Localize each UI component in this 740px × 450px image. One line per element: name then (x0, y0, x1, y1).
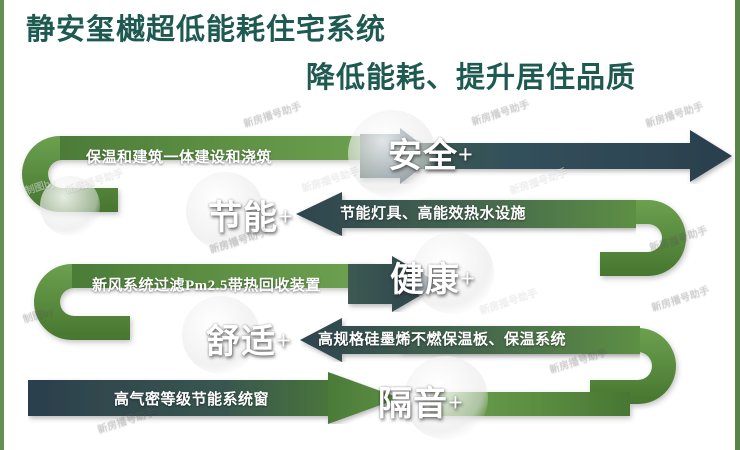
flow-row-3-headline: 健康+ (390, 252, 476, 301)
flow-row-1-headline: 安全+ (388, 128, 474, 177)
flow-row-4-caption: 高规格硅墨烯不燃保温板、保温系统 (318, 328, 566, 349)
flow-row-3-caption: 新风系统过滤Pm2.5带热回收装置 (92, 274, 321, 295)
flow-row-2-headline: 节能+ (208, 190, 294, 239)
flow-row-1: 保温和建筑一体建设和浇筑 (60, 136, 390, 176)
flow-row-5-headline: 隔音+ (378, 376, 464, 425)
flow-row-1-caption: 保温和建筑一体建设和浇筑 (86, 146, 272, 167)
page-subtitle: 降低能耗、提升居住品质 (306, 54, 636, 96)
slide-canvas: 静安玺樾超低能耗住宅系统 降低能耗、提升居住品质 (0, 0, 740, 450)
page-title: 静安玺樾超低能耗住宅系统 (26, 6, 386, 48)
flow-row-2-caption: 节能灯具、高能效热水设施 (340, 202, 526, 223)
flow-row-5-caption: 高气密等级节能系统窗 (114, 388, 269, 409)
flow-row-3: 新风系统过滤Pm2.5带热回收装置 (72, 264, 372, 304)
flow-row-4-headline: 舒适+ (206, 314, 292, 363)
